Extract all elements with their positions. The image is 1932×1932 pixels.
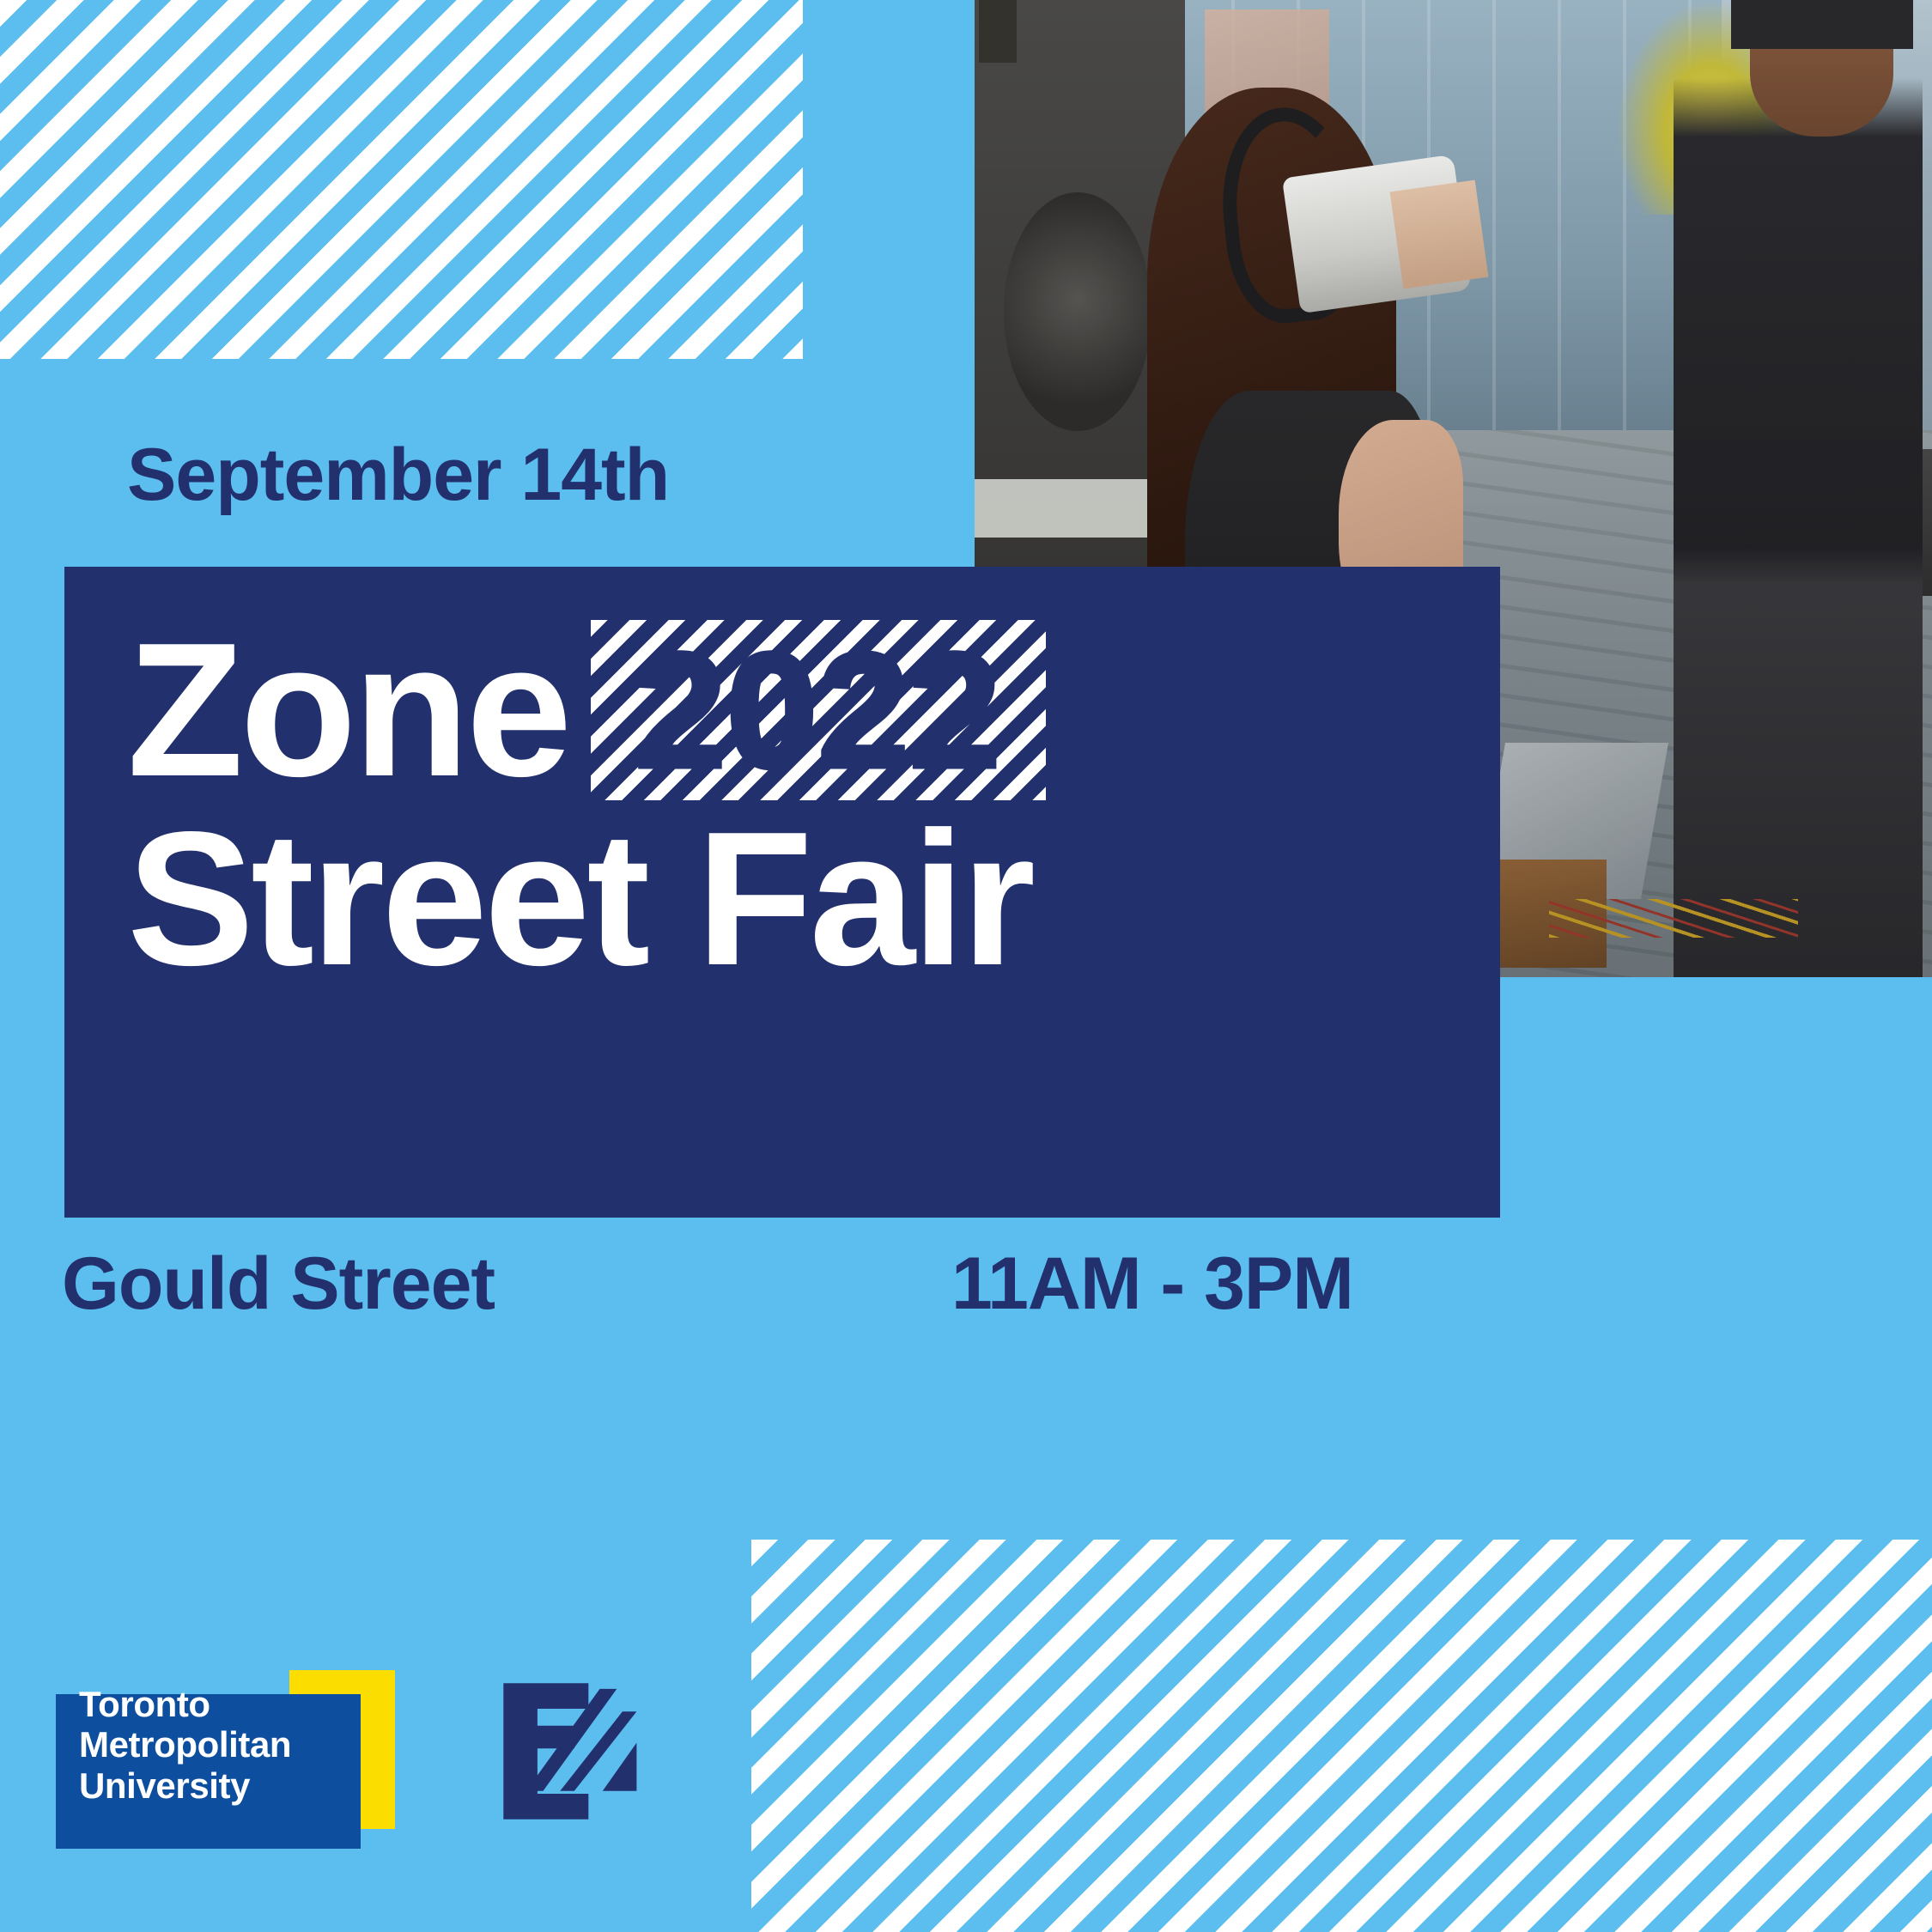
zone-logo bbox=[501, 1680, 642, 1822]
tmu-logo-wordmark: Toronto Metropolitan University bbox=[79, 1684, 291, 1806]
year-striped-badge: 2022 bbox=[591, 620, 1046, 800]
event-poster: September 14th Zone 2022 Street Fair Gou… bbox=[0, 0, 1932, 1932]
headline-row-primary: Zone 2022 bbox=[127, 620, 1046, 800]
title-word-zone: Zone bbox=[127, 622, 568, 799]
headline-panel: Zone 2022 Street Fair bbox=[64, 567, 1500, 1218]
event-date: September 14th bbox=[127, 438, 669, 512]
event-year: 2022 bbox=[591, 629, 1046, 791]
event-time: 11AM - 3PM bbox=[951, 1247, 1353, 1321]
toronto-metropolitan-university-logo: Toronto Metropolitan University bbox=[56, 1670, 395, 1868]
stripe-pattern-top-left bbox=[0, 0, 803, 359]
stripe-pattern-bottom-right bbox=[751, 1540, 1932, 1932]
event-venue: Gould Street bbox=[62, 1247, 495, 1321]
title-words-street-fair: Street Fair bbox=[127, 811, 1032, 987]
zone-z-icon bbox=[501, 1680, 642, 1822]
